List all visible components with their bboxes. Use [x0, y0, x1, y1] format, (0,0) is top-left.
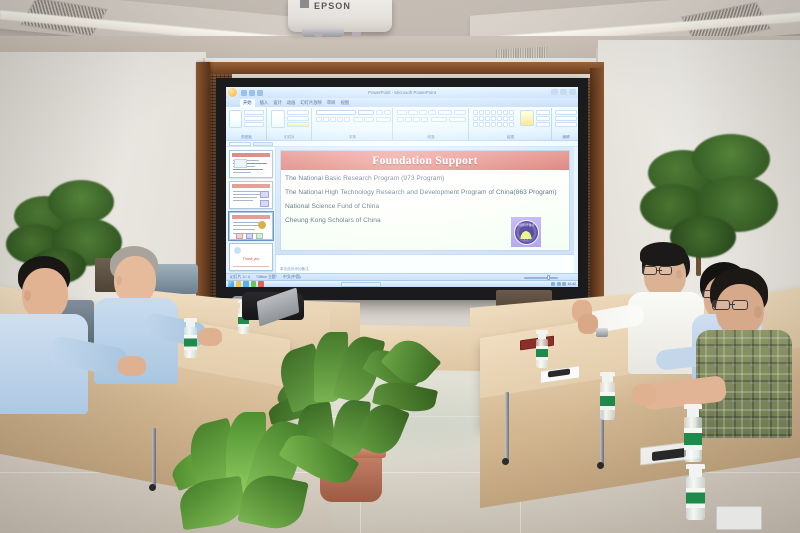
speaker-glasses-left-icon — [642, 266, 657, 275]
r3-label — [684, 428, 702, 450]
thumb3-line-c — [233, 229, 255, 230]
projector-logo-icon — [300, 0, 309, 8]
screen-frame-top — [196, 62, 604, 74]
shape-triangle-icon[interactable] — [491, 110, 496, 115]
ribbon-tab-animations[interactable]: 动画 — [287, 100, 296, 106]
thumb2-line-d — [233, 200, 253, 201]
thumb4-thankyou-text: Thank you — [243, 257, 260, 261]
delete-slide-button[interactable] — [287, 122, 309, 127]
lf-hand — [118, 356, 146, 376]
table-right-caster-a — [502, 458, 509, 465]
increase-indent-button[interactable] — [428, 110, 436, 115]
powerpoint-titlebar: PowerPoint - Microsoft PowerPoint — [226, 87, 578, 98]
ribbon-group-clipboard-label: 剪贴板 — [227, 135, 266, 140]
table-right-leg-a — [505, 392, 509, 462]
rf-glasses-bridge — [730, 304, 735, 305]
zoom-slider[interactable] — [524, 277, 558, 279]
thumb3-title-bar — [232, 215, 270, 219]
slide-title-text: Foundation Support — [372, 155, 477, 167]
char-spacing-button[interactable] — [353, 117, 363, 122]
ribbon-group-editing-label: 编辑 — [553, 135, 578, 140]
r2-label — [600, 392, 615, 410]
shape-star-icon[interactable] — [509, 110, 514, 115]
columns-button[interactable] — [431, 117, 447, 122]
redo-icon[interactable] — [257, 90, 263, 96]
projection-screen-bezel: PowerPoint - Microsoft PowerPoint 开始 插入 … — [216, 78, 588, 300]
speaker-hand-right — [578, 314, 598, 334]
water-bottle-r3 — [684, 404, 702, 462]
shape-curve-icon[interactable] — [503, 116, 508, 121]
table-left-leg-a — [152, 428, 156, 488]
underline-button[interactable] — [330, 117, 336, 122]
align-right-button[interactable] — [413, 117, 420, 122]
ribbon-tab-home[interactable]: 开始 — [240, 99, 255, 107]
shape-freeform-icon[interactable] — [509, 116, 514, 121]
bold-button[interactable] — [316, 117, 322, 122]
align-center-button[interactable] — [405, 117, 412, 122]
shape-line-icon[interactable] — [503, 110, 508, 115]
thumb2-logo-a — [260, 191, 269, 198]
seal-bottom-text: 大学 — [523, 237, 528, 241]
convert-smartart-button[interactable] — [449, 117, 466, 122]
thumb3-box-c — [256, 233, 263, 239]
decrease-indent-button[interactable] — [419, 110, 427, 115]
shape-arrow-icon[interactable] — [497, 110, 502, 115]
taskbar-browser-icon[interactable] — [243, 281, 249, 287]
numbering-button[interactable] — [408, 110, 418, 115]
thumb3-box-b — [246, 233, 253, 239]
shape-cloud-icon[interactable] — [497, 122, 502, 127]
projector-lens-icon — [302, 28, 344, 37]
restore-icon[interactable] — [560, 89, 567, 95]
shape-callout-icon[interactable] — [491, 116, 496, 121]
close-icon[interactable] — [569, 89, 576, 95]
tray-volume-icon[interactable] — [557, 282, 561, 286]
seal-top-text: 中国科学技术 — [517, 223, 534, 227]
taskbar-media-icon[interactable] — [251, 281, 257, 287]
thumb3-seal-icon — [258, 221, 266, 229]
shape-oval-icon[interactable] — [485, 110, 490, 115]
slide-logo: 中国科学技术 大学 — [511, 217, 541, 247]
tray-network-icon[interactable] — [551, 282, 555, 286]
slide-editing-area[interactable]: Foundation Support The National Basic Re… — [276, 147, 574, 273]
speaker-wristwatch-icon — [596, 328, 608, 337]
water-bottle-r4 — [686, 464, 705, 520]
font-size-input[interactable] — [358, 110, 374, 115]
save-icon[interactable] — [241, 90, 247, 96]
ribbon-group-drawing: 绘图 — [470, 108, 552, 140]
shape-chevron-icon[interactable] — [473, 122, 478, 127]
font-family-input[interactable] — [316, 110, 356, 115]
shrink-font-button[interactable] — [384, 110, 391, 115]
bullets-button[interactable] — [397, 110, 407, 115]
shape-outline-button[interactable] — [536, 116, 550, 121]
powerpoint-ribbon[interactable]: 剪贴板 幻灯片 — [226, 107, 578, 141]
thumb2-line-c — [233, 197, 257, 198]
cut-button[interactable] — [244, 110, 264, 115]
slide-thumbnail-3[interactable] — [229, 212, 273, 240]
find-button[interactable] — [555, 110, 577, 115]
grow-font-button[interactable] — [376, 110, 383, 115]
lb-hand — [198, 328, 222, 346]
foreground-plant-left — [170, 412, 360, 533]
ribbon-tab-slideshow[interactable]: 幻灯片放映 — [300, 100, 321, 106]
shape-fill-button[interactable] — [536, 110, 550, 115]
line-spacing-button[interactable] — [438, 110, 452, 115]
ribbon-group-font-label: 字体 — [313, 135, 392, 140]
r4-label — [686, 488, 705, 508]
slide-bullet-1: The National Basic Research Program (973… — [285, 175, 565, 183]
format-painter-button[interactable] — [244, 122, 264, 127]
shape-moon-icon[interactable] — [503, 122, 508, 127]
office-orb-icon[interactable] — [227, 87, 238, 98]
slide-bullet-2: The National High Technology Research an… — [285, 189, 565, 197]
l1-label — [184, 335, 197, 350]
taskbar-folder-icon[interactable] — [236, 281, 242, 287]
shape-plaque-icon[interactable] — [509, 122, 514, 127]
align-left-button[interactable] — [397, 117, 404, 122]
table-right-caster-b — [597, 462, 604, 469]
thumb2-line-a — [233, 191, 261, 192]
thumb2-logo-b — [260, 200, 269, 207]
ribbon-tab-insert[interactable]: 插入 — [260, 100, 269, 106]
thumb4-line — [233, 266, 269, 267]
thumb2-title-bar — [232, 184, 270, 188]
shape-banner-icon[interactable] — [497, 116, 502, 121]
thumb1-line-e — [233, 172, 251, 173]
thumb1-box — [234, 159, 247, 168]
outline-tab-slides[interactable] — [229, 142, 251, 146]
taskbar-powerpoint-icon[interactable] — [258, 281, 264, 287]
change-case-button[interactable] — [364, 117, 374, 122]
shape-pentagon-icon[interactable] — [485, 116, 490, 121]
rf-ear — [754, 306, 762, 318]
system-tray[interactable]: 10:42 — [551, 282, 576, 286]
table-left-caster-a — [149, 484, 156, 491]
shapes-gallery[interactable] — [473, 110, 514, 127]
university-seal-icon: 中国科学技术 大学 — [514, 220, 539, 245]
undo-icon[interactable] — [249, 90, 255, 96]
layout-button[interactable] — [287, 110, 309, 115]
current-slide[interactable]: Foundation Support The National Basic Re… — [280, 150, 570, 251]
outline-tab-outline[interactable] — [253, 142, 273, 146]
projected-powerpoint-screen[interactable]: PowerPoint - Microsoft PowerPoint 开始 插入 … — [226, 87, 578, 287]
slide-thumbnail-1[interactable] — [229, 150, 273, 178]
slide-bullet-3: National Science Fund of China — [285, 203, 565, 211]
thumb1-title-bar — [232, 153, 270, 157]
italic-button[interactable] — [323, 117, 329, 122]
water-bottle-r2 — [600, 372, 615, 420]
slide-thumbnail-4[interactable]: Thank you — [229, 243, 273, 271]
text-direction-button[interactable] — [454, 110, 466, 115]
r4-neck — [689, 469, 703, 477]
copy-button[interactable] — [244, 116, 264, 121]
tray-clock[interactable]: 10:42 — [568, 282, 577, 286]
shape-heart-icon[interactable] — [491, 122, 496, 127]
r3-neck — [687, 409, 700, 417]
shape-diamond-icon[interactable] — [479, 116, 484, 121]
reset-button[interactable] — [287, 116, 309, 121]
shape-bracket-icon[interactable] — [479, 122, 484, 127]
ribbon-group-drawing-label: 绘图 — [470, 135, 551, 140]
replace-button[interactable] — [555, 116, 577, 121]
rf-hand — [632, 384, 656, 406]
projector-foot-left — [314, 32, 323, 37]
shape-rounded-icon[interactable] — [479, 110, 484, 115]
slide-title-banner: Foundation Support — [281, 151, 569, 170]
thumb1-line-d — [233, 169, 263, 170]
start-button-icon[interactable] — [228, 281, 234, 287]
minimize-icon[interactable] — [551, 89, 558, 95]
ribbon-tab-view[interactable]: 视图 — [340, 100, 349, 106]
ribbon-group-editing: 编辑 — [553, 108, 578, 140]
slide-thumbnail-pane[interactable]: Thank you — [226, 147, 276, 273]
shape-effects-button[interactable] — [536, 122, 550, 127]
thumb3-line-a — [233, 222, 259, 223]
speaker-ear — [676, 270, 682, 279]
thumb3-box-a — [236, 233, 243, 239]
ribbon-group-slides-label: 幻灯片 — [268, 135, 311, 140]
windows-taskbar[interactable]: 10:42 — [226, 280, 578, 287]
shape-cross-icon[interactable] — [485, 122, 490, 127]
ribbon-group-slides: 幻灯片 — [268, 108, 312, 140]
thumb4-circle-icon — [234, 247, 241, 254]
document-title: PowerPoint - Microsoft PowerPoint — [368, 90, 436, 95]
justify-button[interactable] — [421, 117, 428, 122]
shadow-button[interactable] — [337, 117, 343, 122]
projector-brand-label: EPSON — [314, 1, 351, 11]
ribbon-group-paragraph-label: 段落 — [394, 135, 468, 140]
smartphone-front — [716, 506, 762, 530]
projector-foot-right — [352, 32, 361, 37]
strikethrough-button[interactable] — [344, 117, 350, 122]
select-button[interactable] — [555, 122, 577, 127]
ceiling-projector: EPSON — [288, 0, 392, 32]
ribbon-group-paragraph: 段落 — [394, 108, 469, 140]
ribbon-group-font: 字体 — [313, 108, 393, 140]
taskbar-window-button[interactable] — [341, 282, 381, 287]
slide-thumbnail-2[interactable] — [229, 181, 273, 209]
conference-room-scene: EPSON — [0, 0, 800, 533]
tray-shield-icon[interactable] — [562, 282, 566, 286]
window-buttons[interactable] — [551, 89, 576, 95]
rf-glasses-left-icon — [712, 300, 730, 310]
water-bottle-l1 — [184, 318, 197, 358]
font-color-button[interactable] — [376, 117, 391, 122]
person-left-front — [0, 256, 120, 416]
ribbon-tab-review[interactable]: 审阅 — [327, 100, 336, 106]
ribbon-tab-design[interactable]: 设计 — [273, 100, 282, 106]
ribbon-group-clipboard: 剪贴板 — [227, 108, 267, 140]
water-bottle-r1 — [536, 330, 548, 368]
quick-access-toolbar[interactable] — [241, 90, 263, 96]
notes-placeholder-text: 单击此处添加备注 — [280, 267, 309, 271]
paste-button[interactable] — [229, 110, 242, 128]
ribbon-tab-bar[interactable]: 开始 插入 设计 动画 幻灯片放映 审阅 视图 — [226, 98, 578, 107]
new-slide-button[interactable] — [271, 110, 285, 128]
speaker-hair-top — [640, 242, 686, 266]
notes-pane[interactable]: 单击此处添加备注 — [276, 254, 574, 273]
quick-styles-button[interactable] — [520, 110, 534, 126]
screen-frame-right — [590, 68, 604, 318]
person-right-front — [700, 268, 800, 438]
shape-cube-icon[interactable] — [473, 116, 478, 121]
shape-rect-icon[interactable] — [473, 110, 478, 115]
r1-label — [536, 346, 548, 360]
lf-ear — [24, 290, 31, 301]
speaker-glasses-bridge — [657, 270, 662, 271]
